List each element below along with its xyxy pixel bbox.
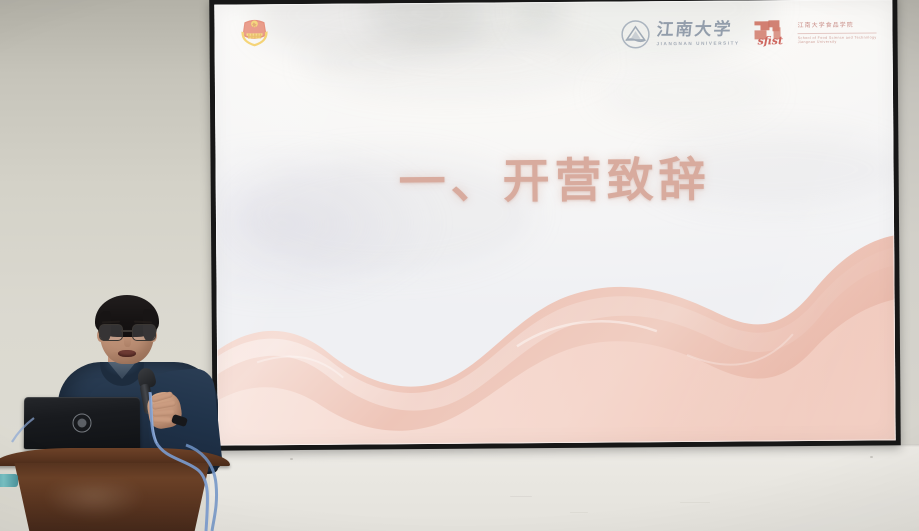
logo-divider bbox=[798, 32, 877, 34]
cloud-wisp-icon bbox=[304, 26, 605, 98]
laptop-lid bbox=[24, 397, 140, 449]
sfist-school-logo: sfist 江南大学食品学院 School of Food Science an… bbox=[752, 16, 877, 49]
wooden-lectern bbox=[0, 448, 230, 531]
jiangnan-university-logo: 江南大学 JIANGNAN UNIVERSITY bbox=[620, 19, 739, 50]
school-name-cn: 江南大学食品学院 bbox=[798, 23, 877, 31]
lectern-highlight bbox=[46, 483, 166, 529]
university-name-en: JIANGNAN UNIVERSITY bbox=[656, 41, 739, 46]
dell-logo-icon bbox=[72, 414, 91, 433]
glasses-bridge bbox=[121, 330, 133, 332]
sfist-mark-icon: sfist bbox=[752, 17, 792, 49]
slide-title: 一、开营致辞 bbox=[215, 139, 894, 213]
room-wall-below-screen bbox=[210, 444, 919, 531]
finger bbox=[152, 417, 172, 424]
nose bbox=[124, 336, 131, 347]
svg-text:sfist: sfist bbox=[758, 34, 784, 47]
slide-wave-decoration bbox=[216, 225, 896, 445]
projection-screen-frame: 江南大学 JIANGNAN UNIVERSITY sfist bbox=[209, 0, 901, 451]
cloud-wisp-icon bbox=[595, 60, 775, 121]
university-name-cn: 江南大学 bbox=[656, 21, 741, 39]
glasses-lens-left bbox=[99, 324, 123, 341]
jiangnan-university-mark-icon bbox=[620, 19, 650, 49]
slide-logo-row: 江南大学 JIANGNAN UNIVERSITY sfist bbox=[620, 10, 876, 56]
glasses-lens-right bbox=[132, 324, 156, 341]
sfist-wordmark-text: 江南大学食品学院 School of Food Science and Tech… bbox=[798, 21, 877, 45]
school-name-en-line2: Jiangnan University bbox=[798, 40, 877, 45]
dell-laptop[interactable] bbox=[24, 397, 140, 453]
communist-youth-league-emblem-icon bbox=[236, 15, 272, 51]
lectern-body bbox=[6, 463, 218, 531]
mouth bbox=[118, 350, 136, 357]
presentation-slide: 江南大学 JIANGNAN UNIVERSITY sfist bbox=[214, 0, 895, 446]
projection-screen-surface: 江南大学 JIANGNAN UNIVERSITY sfist bbox=[214, 0, 895, 446]
jiangnan-university-wordmark: 江南大学 JIANGNAN UNIVERSITY bbox=[656, 21, 739, 46]
presentation-photo-scene: 江南大学 JIANGNAN UNIVERSITY sfist bbox=[0, 0, 919, 531]
lectern-control-plate bbox=[0, 474, 18, 487]
